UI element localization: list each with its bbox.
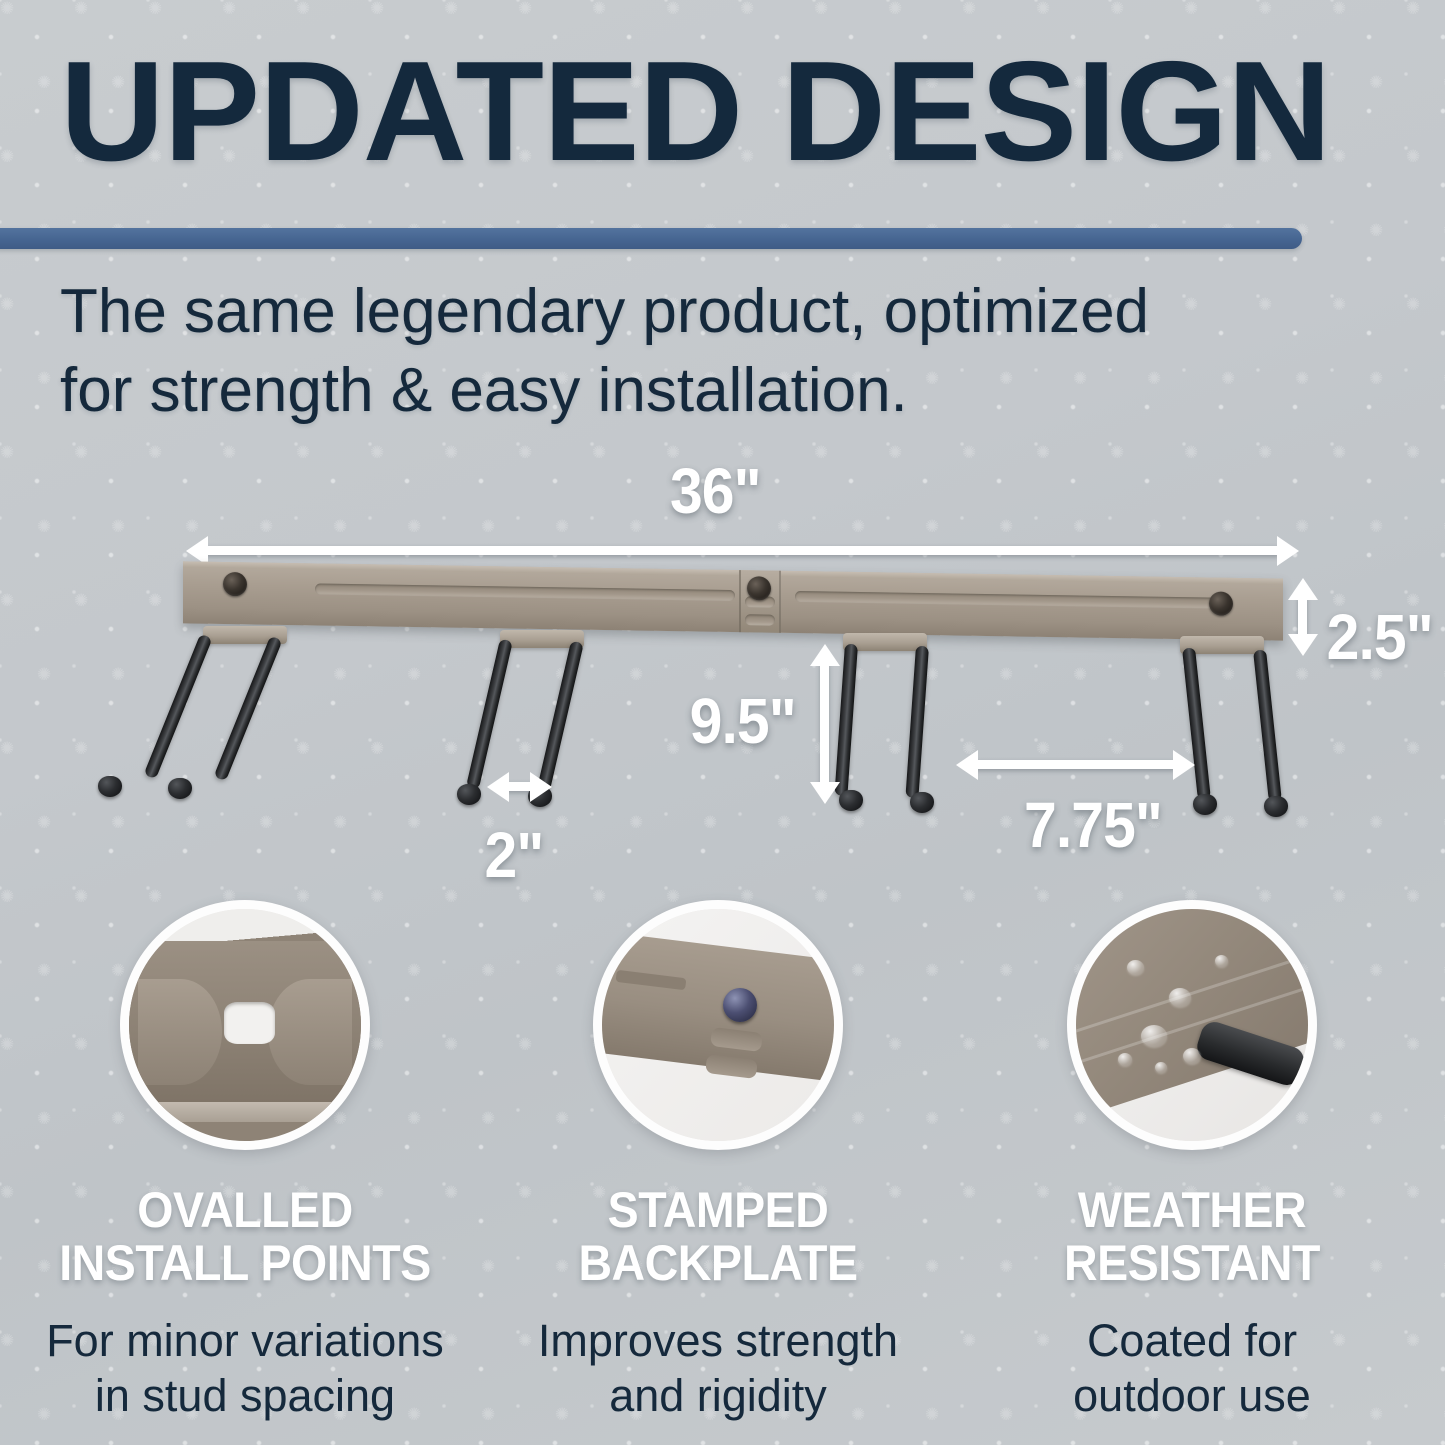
- dimension-arrowhead-depth-bottom: [1288, 634, 1318, 656]
- feature-desc-2-line2: and rigidity: [483, 1369, 953, 1424]
- backplate-groove-left: [315, 583, 735, 601]
- feature-heading-2-line1: STAMPED: [499, 1184, 936, 1237]
- dimension-arrow-depth: [1298, 596, 1307, 636]
- dimension-arrowhead-gap-right: [530, 772, 552, 802]
- feature-heading-1: OVALLED INSTALL POINTS: [26, 1184, 463, 1290]
- water-droplet-2: [1169, 988, 1191, 1007]
- dimension-arrowhead-arm-bottom: [810, 782, 840, 804]
- feature-image-weather-resistant: [1067, 900, 1317, 1150]
- dimension-arrowhead-depth-top: [1288, 578, 1318, 600]
- feature-card-weather-resistant: WEATHER RESISTANT Coated for outdoor use: [957, 900, 1427, 1424]
- feature-desc-3-line1: Coated for: [957, 1314, 1427, 1369]
- hook-arm-2b: [537, 641, 584, 792]
- dimension-label-hook-spacing: 7.75": [1024, 788, 1162, 862]
- ovalled-curve-right: [268, 979, 352, 1086]
- hook-tip-4a: [1193, 794, 1217, 815]
- hook-arm-1b: [214, 636, 283, 782]
- dimension-label-depth: 2.5": [1327, 600, 1433, 674]
- water-droplet-1: [1127, 960, 1144, 975]
- water-droplet-5: [1183, 1048, 1201, 1064]
- feature-image-ovalled-install-points: [120, 900, 370, 1150]
- hook-arm-2a: [466, 639, 513, 790]
- feature-card-ovalled-install-points: OVALLED INSTALL POINTS For minor variati…: [10, 900, 480, 1424]
- dimension-arrow-arm-length: [820, 662, 829, 784]
- feature-desc-1-line1: For minor variations: [10, 1314, 480, 1369]
- subtitle-line-2: for strength & easy installation.: [60, 351, 1360, 430]
- backplate-seam-left: [739, 570, 741, 632]
- water-droplet-3: [1141, 1025, 1167, 1047]
- feature-desc-3-line2: outdoor use: [957, 1369, 1427, 1424]
- water-droplet-7: [1155, 1062, 1167, 1073]
- dimension-arrowhead-width-right: [1277, 536, 1299, 566]
- dimension-arrowhead-spacing-right: [1173, 750, 1195, 780]
- hook-arm-3b: [905, 646, 929, 799]
- backplate-seam-right: [779, 571, 781, 633]
- backplate-groove-right: [795, 591, 1215, 609]
- hook-arm-3a: [834, 644, 858, 797]
- feature-heading-3-line2: RESISTANT: [973, 1237, 1410, 1290]
- feature-heading-3-line1: WEATHER: [973, 1184, 1410, 1237]
- feature-heading-3: WEATHER RESISTANT: [973, 1184, 1410, 1290]
- hook-tip-3b: [910, 792, 934, 813]
- dimension-arrow-width: [205, 546, 1279, 555]
- mounting-screw-center: [747, 576, 771, 600]
- hook-tip-3a: [839, 790, 863, 811]
- infographic-canvas: ✺✺✺✺✺✺✺✺✺✺✺✺✺✺✺✺✺✺✺✺✺✺✺✺✺✺✺✺✺✺✺✺✺✺✺✺✺✺✺✺…: [0, 0, 1445, 1445]
- dimension-label-arm-gap: 2": [485, 818, 544, 892]
- feature-heading-1-line1: OVALLED: [26, 1184, 463, 1237]
- feature-desc-1: For minor variations in stud spacing: [10, 1314, 480, 1424]
- feature-card-stamped-backplate: STAMPED BACKPLATE Improves strength and …: [483, 900, 953, 1424]
- stamped-screw: [723, 988, 757, 1022]
- ovalled-hole: [224, 1002, 275, 1044]
- accent-divider-bar: [0, 228, 1302, 249]
- dimension-arrow-hook-spacing: [975, 760, 1175, 769]
- feature-desc-2-line1: Improves strength: [483, 1314, 953, 1369]
- feature-desc-2: Improves strength and rigidity: [483, 1314, 953, 1424]
- dimension-arrowhead-gap-left: [487, 772, 509, 802]
- hook-tip-1b: [168, 778, 192, 799]
- subtitle-line-1: The same legendary product, optimized: [60, 272, 1360, 351]
- backplate: [183, 561, 1283, 640]
- page-subtitle: The same legendary product, optimized fo…: [60, 272, 1360, 431]
- stamped-dimple-lower: [745, 614, 775, 625]
- mounting-screw-right: [1209, 591, 1233, 615]
- hook-arm-4b: [1253, 649, 1282, 802]
- hook-tip-2a: [457, 784, 481, 805]
- dimension-label-width: 36": [670, 454, 761, 528]
- feature-cards: OVALLED INSTALL POINTS For minor variati…: [0, 900, 1445, 1445]
- dimension-arrowhead-arm-top: [810, 644, 840, 666]
- mounting-screw-left: [223, 572, 247, 596]
- dimension-label-arm-length: 9.5": [690, 684, 796, 758]
- feature-heading-2-line2: BACKPLATE: [499, 1237, 936, 1290]
- hook-arm-1a: [144, 634, 213, 780]
- product-diagram: 36": [0, 440, 1445, 900]
- feature-heading-1-line2: INSTALL POINTS: [26, 1237, 463, 1290]
- ovalled-curve-left: [138, 979, 222, 1086]
- dimension-arrowhead-spacing-left: [956, 750, 978, 780]
- feature-desc-1-line2: in stud spacing: [10, 1369, 480, 1424]
- hook-tip-1a: [98, 776, 122, 797]
- feature-desc-3: Coated for outdoor use: [957, 1314, 1427, 1424]
- ovalled-bottom-edge: [129, 1102, 361, 1123]
- hook-tip-4b: [1264, 796, 1288, 817]
- feature-heading-2: STAMPED BACKPLATE: [499, 1184, 936, 1290]
- feature-image-stamped-backplate: [593, 900, 843, 1150]
- page-title: UPDATED DESIGN: [60, 44, 1417, 180]
- water-droplet-4: [1118, 1053, 1132, 1066]
